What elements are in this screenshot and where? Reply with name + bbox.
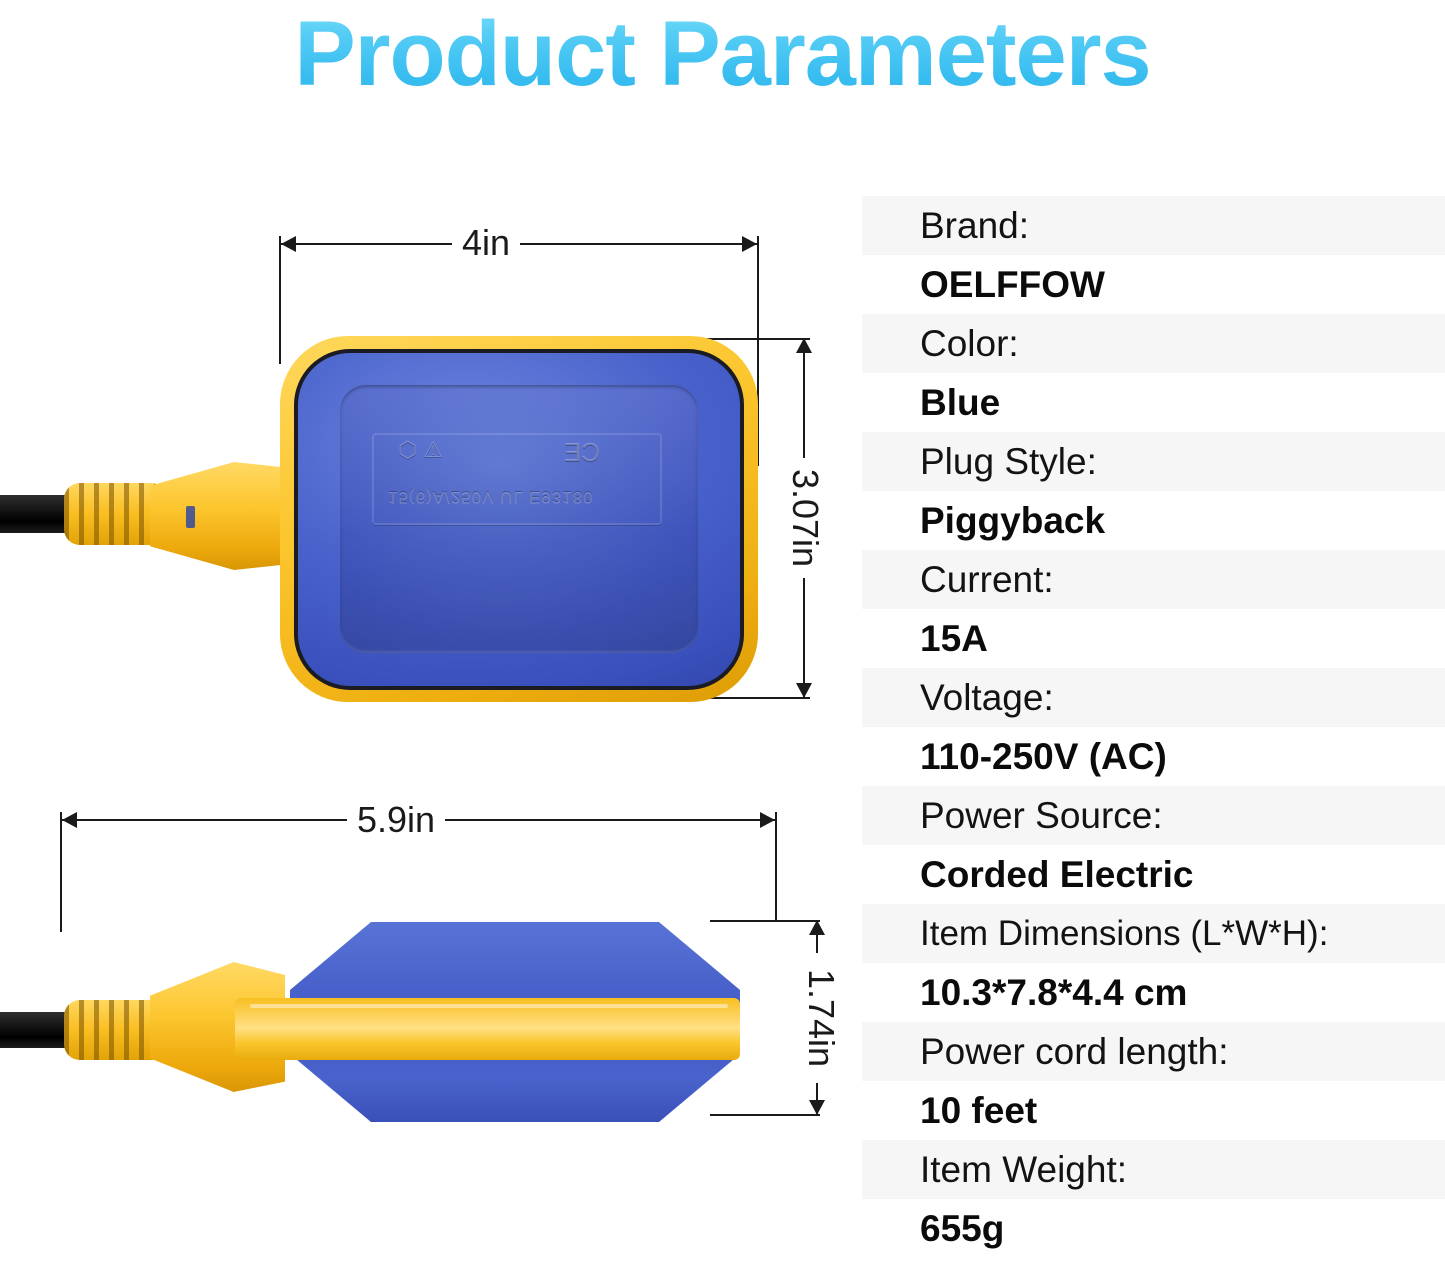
arrow-left-width-top <box>281 236 296 252</box>
parameter-label-row: Voltage: <box>862 668 1445 727</box>
parameter-value-row: OELFFOW <box>862 255 1445 314</box>
dimension-label-height-top: 3.07in <box>785 458 825 578</box>
parameter-label-row: Item Weight: <box>862 1140 1445 1199</box>
parameter-value-row: 110-250V (AC) <box>862 727 1445 786</box>
parameter-label-row: Plug Style: <box>862 432 1445 491</box>
parameter-value-row: Corded Electric <box>862 845 1445 904</box>
parameter-label: Power cord length: <box>920 1030 1229 1074</box>
embossed-warning-glyphs: ⚠ ⬡ <box>398 437 443 463</box>
parameters-table: Brand:OELFFOWColor:BluePlug Style:Piggyb… <box>862 196 1445 1258</box>
power-cord-top-view <box>0 495 74 533</box>
parameter-label: Current: <box>920 558 1054 602</box>
parameter-value-row: 655g <box>862 1199 1445 1258</box>
parameter-label: Item Weight: <box>920 1148 1127 1192</box>
arrow-right-width-top <box>742 236 757 252</box>
parameter-label: Brand: <box>920 204 1029 248</box>
parameter-value: 655g <box>920 1207 1004 1251</box>
parameter-label: Voltage: <box>920 676 1054 720</box>
housing-recess-panel-top-view: CE ⚠ ⬡ 15(6)A/250V UL E93180 <box>340 385 698 653</box>
dimension-label-width-top: 4in <box>452 223 520 263</box>
parameter-label-row: Power cord length: <box>862 1022 1445 1081</box>
extension-line-left-top <box>279 236 281 364</box>
parameter-value: Blue <box>920 381 1000 425</box>
parameter-value-row: 10 feet <box>862 1081 1445 1140</box>
arrow-up-height-top <box>796 338 812 353</box>
parameter-label: Power Source: <box>920 794 1163 838</box>
arrow-down-thickness-side <box>809 1100 825 1115</box>
arrow-left-length-side <box>62 812 77 828</box>
page-title: Product Parameters <box>0 2 1445 106</box>
arrow-right-length-side <box>760 812 775 828</box>
strain-relief-boot-side-view <box>64 1000 160 1060</box>
dimension-label-thickness-side: 1.74in <box>801 953 841 1083</box>
parameter-value: 110-250V (AC) <box>920 735 1167 779</box>
product-parameters-infographic: Product Parameters 4in 3.07in <box>0 0 1445 1268</box>
parameter-value-row: Blue <box>862 373 1445 432</box>
parameter-value: 10.3*7.8*4.4 cm <box>920 971 1187 1015</box>
parameter-value-row: 10.3*7.8*4.4 cm <box>862 963 1445 1022</box>
power-cord-side-view <box>0 1012 74 1048</box>
parameter-value: OELFFOW <box>920 263 1105 307</box>
product-image-side-view <box>0 900 800 1130</box>
strain-relief-boot-top-view <box>64 483 160 545</box>
embossed-ce-mark: CE <box>564 437 600 468</box>
boot-ribs-side-view <box>64 1000 160 1060</box>
arrow-down-height-top <box>796 683 812 698</box>
parameter-value: Corded Electric <box>920 853 1193 897</box>
parameter-value: 15A <box>920 617 988 661</box>
arrow-up-thickness-side <box>809 920 825 935</box>
parameter-label: Color: <box>920 322 1019 366</box>
float-band-highlight-side-view <box>250 1004 728 1008</box>
parameter-value-row: Piggyback <box>862 491 1445 550</box>
gland-marker-top-view <box>186 506 195 528</box>
dimension-label-length-side: 5.9in <box>347 800 445 840</box>
parameter-label-row: Brand: <box>862 196 1445 255</box>
parameter-value-row: 15A <box>862 609 1445 668</box>
parameter-label: Plug Style: <box>920 440 1097 484</box>
embossed-rating-text: 15(6)A/250V UL E93180 <box>388 487 594 507</box>
product-image-top-view: CE ⚠ ⬡ 15(6)A/250V UL E93180 <box>0 440 790 730</box>
parameter-label-row: Current: <box>862 550 1445 609</box>
parameter-value: Piggyback <box>920 499 1105 543</box>
cable-gland-top-view <box>150 462 295 570</box>
parameter-label: Item Dimensions (L*W*H): <box>920 912 1328 956</box>
parameter-value: 10 feet <box>920 1089 1037 1133</box>
boot-ribs-top-view <box>64 483 160 545</box>
parameter-label-row: Power Source: <box>862 786 1445 845</box>
extension-line-upper-height <box>700 338 810 340</box>
parameter-label-row: Item Dimensions (L*W*H): <box>862 904 1445 963</box>
parameter-label-row: Color: <box>862 314 1445 373</box>
